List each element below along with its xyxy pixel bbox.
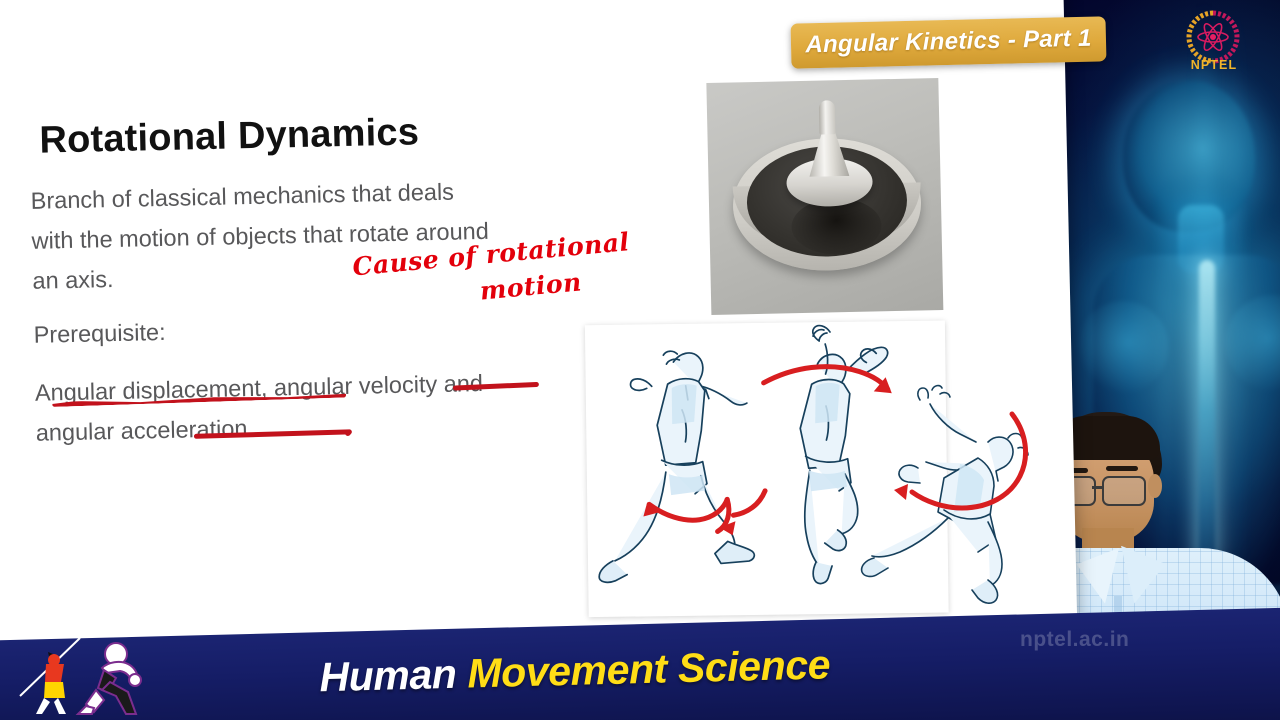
runner-icon [78,643,141,714]
site-watermark: nptel.ac.in [1020,628,1270,658]
eyeglasses-icon [1102,476,1146,506]
cricket-bowler-illustration-right [860,372,1045,622]
nptel-logo-label: NPTEL [1172,58,1256,72]
athlete-icons [18,630,158,716]
nptel-atom-icon [1184,10,1242,64]
red-annotation-dot [345,430,351,436]
spinning-top-photo [706,78,943,315]
page-title: Rotational Dynamics [39,112,420,163]
topic-badge: Angular Kinetics - Part 1 [791,16,1107,68]
course-banner-title: Human Movement Science [319,641,831,701]
banner-word-secondary: Movement Science [467,641,831,696]
slide-paragraph-prerequisite-label: Prerequisite: [33,312,166,355]
slide-paragraph-prerequisite-list: Angular displacement, angular velocity a… [35,361,567,453]
slide-paragraph-definition: Branch of classical mechanics that deals… [30,171,503,301]
topic-badge-label: Angular Kinetics - Part 1 [791,24,1107,59]
banner-word-primary: Human [319,651,457,700]
javelin-thrower-icon [20,638,80,714]
nptel-logo: NPTEL [1172,8,1256,80]
video-frame: Rotational Dynamics Branch of classical … [0,0,1280,720]
